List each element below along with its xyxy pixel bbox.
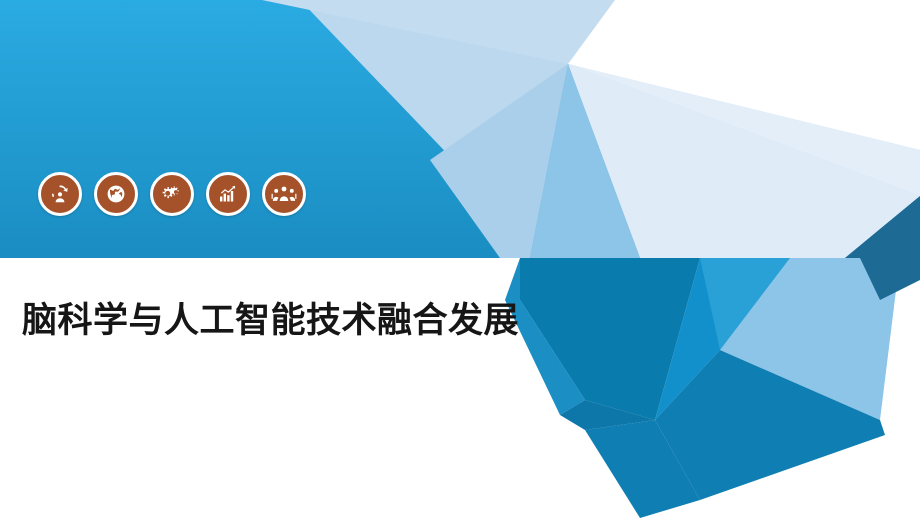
bar-chart-growth-icon-badge[interactable]	[206, 172, 250, 216]
presentation-title-slide: 数智创新 变革未来	[0, 0, 920, 518]
gears-icon-badge[interactable]	[150, 172, 194, 216]
icon-badge-row	[38, 172, 306, 216]
refresh-person-icon-badge[interactable]	[38, 172, 82, 216]
page-title: 脑科学与人工智能技术融合发展	[22, 295, 542, 346]
team-people-icon-badge[interactable]	[262, 172, 306, 216]
globe-icon	[104, 182, 128, 206]
refresh-person-icon	[48, 182, 72, 206]
bar-chart-growth-icon	[216, 182, 240, 206]
team-people-icon	[271, 182, 297, 206]
slide-tagline: 数智创新 变革未来	[697, 25, 896, 59]
globe-icon-badge[interactable]	[94, 172, 138, 216]
title-block: 脑科学与人工智能技术融合发展	[22, 295, 542, 346]
geometric-background	[0, 0, 920, 518]
gears-icon	[160, 182, 185, 207]
